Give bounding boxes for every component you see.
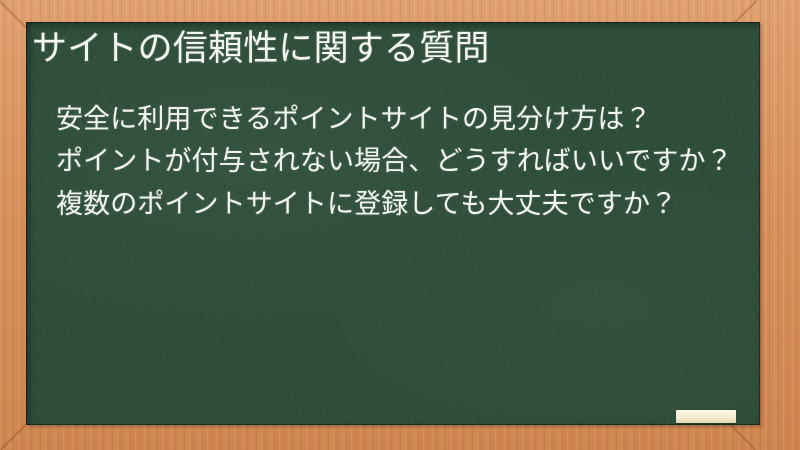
page-title: サイトの信頼性に関する質問 — [32, 27, 752, 72]
chalk-stick-icon — [676, 410, 736, 423]
list-item: 安全に利用できるポイントサイトの見分け方は？ — [56, 100, 756, 138]
question-list: 安全に利用できるポイントサイトの見分け方は？ ポイントが付与されない場合、どうす… — [56, 100, 756, 227]
chalkboard-surface: サイトの信頼性に関する質問 安全に利用できるポイントサイトの見分け方は？ ポイン… — [26, 22, 760, 425]
chalkboard-slide: サイトの信頼性に関する質問 安全に利用できるポイントサイトの見分け方は？ ポイン… — [0, 0, 800, 450]
list-item: ポイントが付与されない場合、どうすればいいですか？ — [56, 142, 756, 180]
list-item: 複数のポイントサイトに登録しても大丈夫ですか？ — [56, 185, 756, 223]
